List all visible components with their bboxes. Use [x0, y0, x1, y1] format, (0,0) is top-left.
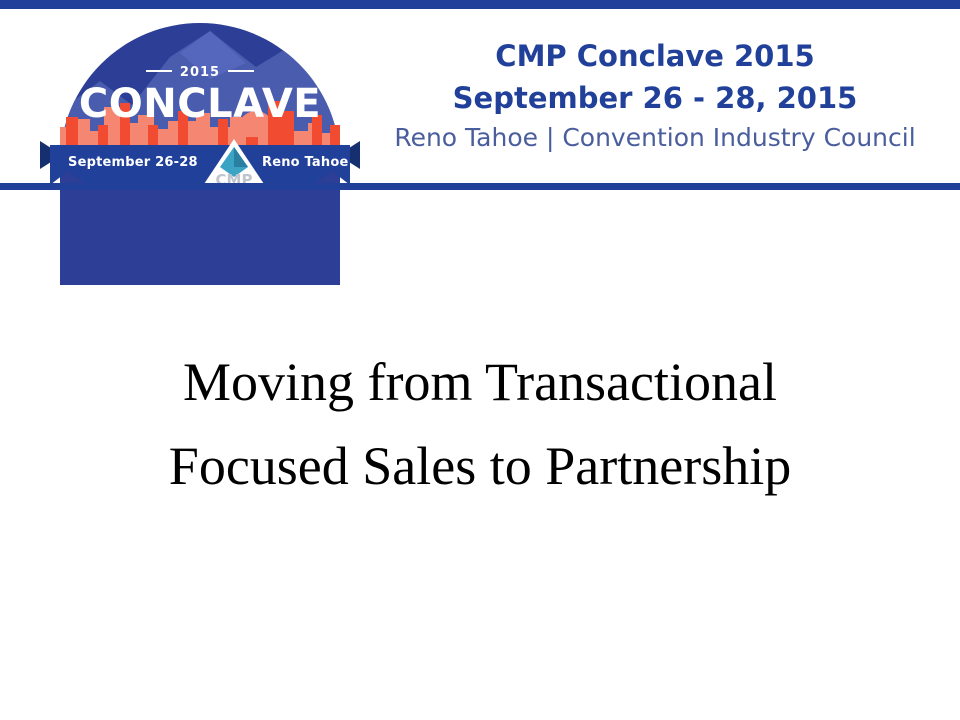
- slide-title-line-1: Moving from Transactional: [40, 340, 920, 424]
- header-event-location: Reno Tahoe | Convention Industry Council: [380, 119, 930, 157]
- logo-ribbon-location: Reno Tahoe: [262, 147, 349, 179]
- logo-year-dash-right: [228, 70, 254, 72]
- logo-year-dash-left: [146, 70, 172, 72]
- slide-title: Moving from Transactional Focused Sales …: [40, 340, 920, 508]
- top-accent-bar: [0, 0, 960, 9]
- logo-wordmark: CONCLAVE: [60, 81, 340, 127]
- header-divider-bar: [0, 183, 960, 190]
- header-event-name: CMP Conclave 2015: [380, 35, 930, 77]
- slide-title-line-2: Focused Sales to Partnership: [40, 424, 920, 508]
- header-event-dates: September 26 - 28, 2015: [380, 77, 930, 119]
- header-text-block: CMP Conclave 2015 September 26 - 28, 201…: [380, 35, 930, 157]
- logo-year: 2015: [60, 65, 340, 80]
- slide-canvas: September 26-28 Reno Tahoe CMP 2015 CONC…: [0, 0, 960, 720]
- conclave-logo: September 26-28 Reno Tahoe CMP 2015 CONC…: [40, 23, 360, 183]
- header-band: September 26-28 Reno Tahoe CMP 2015 CONC…: [0, 9, 960, 183]
- logo-ribbon-date: September 26-28: [68, 147, 198, 179]
- cmp-logo-icon: CMP: [200, 137, 268, 189]
- logo-year-text: 2015: [180, 65, 220, 80]
